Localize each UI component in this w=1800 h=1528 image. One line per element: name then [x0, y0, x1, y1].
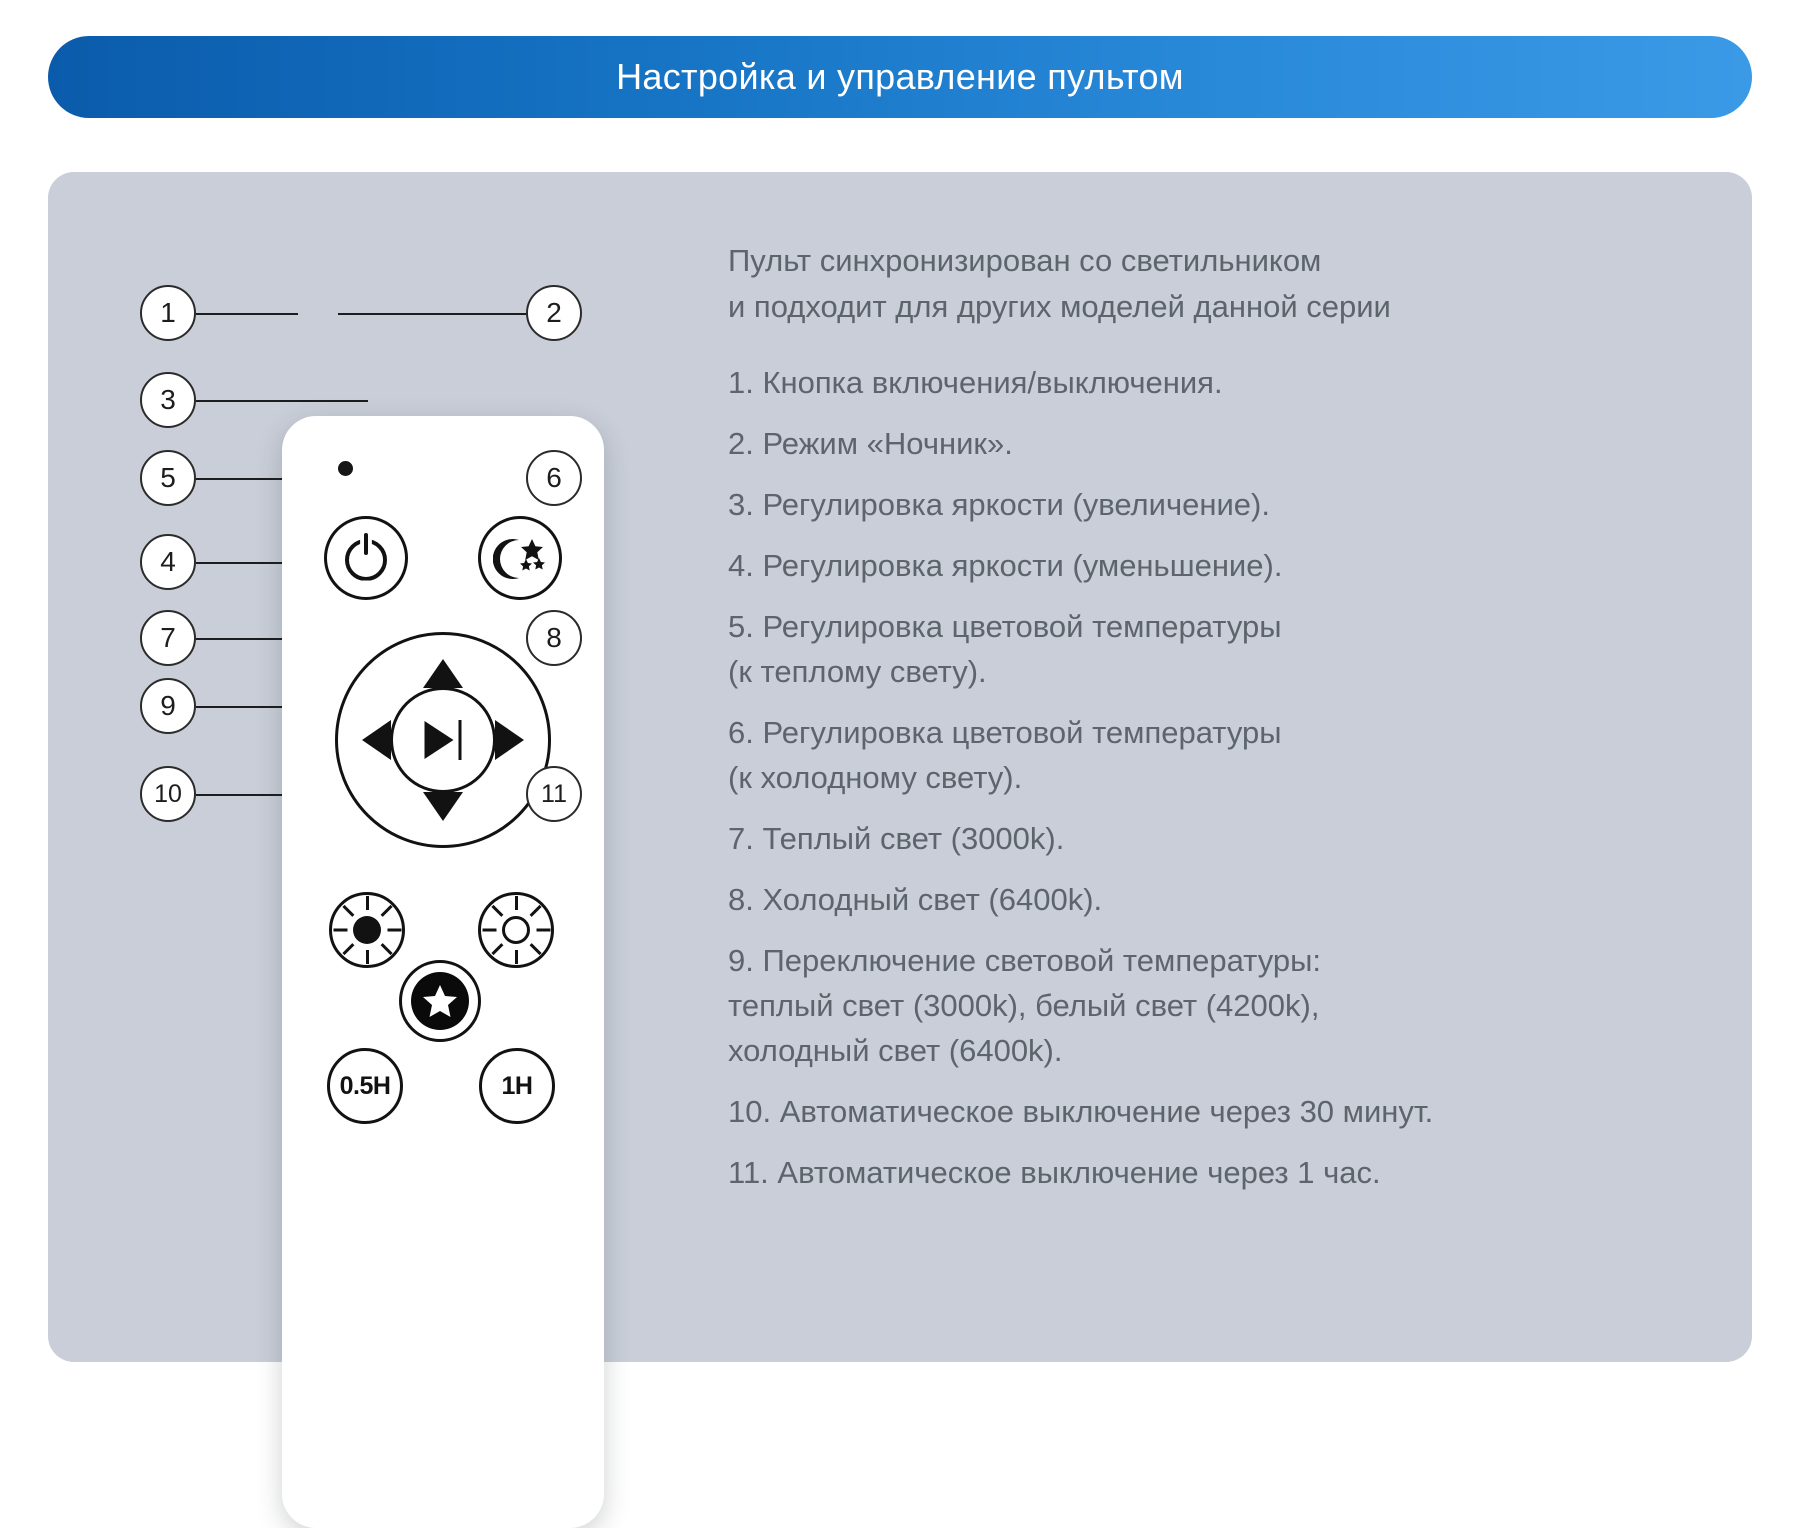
list-item: 7. Теплый свет (3000k). — [728, 816, 1688, 861]
callout-10[interactable]: 10 — [140, 766, 196, 822]
callout-10-label: 10 — [154, 780, 182, 809]
sun-ray — [529, 905, 541, 917]
pause-bar-icon — [459, 720, 462, 760]
list-item: 11. Автоматическое выключение через 1 ча… — [728, 1150, 1688, 1195]
list-item: 4. Регулировка яркости (уменьшение). — [728, 543, 1688, 588]
callout-3-label: 3 — [160, 384, 176, 416]
leader-line-1 — [196, 313, 298, 315]
callout-5-label: 5 — [160, 462, 176, 494]
callout-9-label: 9 — [160, 690, 176, 722]
triangle-up-icon[interactable] — [423, 659, 463, 688]
leader-line-7 — [196, 638, 294, 640]
timer-1hour-button[interactable]: 1H — [479, 1048, 555, 1124]
callout-4-label: 4 — [160, 546, 176, 578]
callout-5[interactable]: 5 — [140, 450, 196, 506]
list-item: 8. Холодный свет (6400k). — [728, 877, 1688, 922]
callout-9[interactable]: 9 — [140, 678, 196, 734]
moon-stars-icon — [493, 531, 549, 587]
callout-7-label: 7 — [160, 622, 176, 654]
callout-11-label: 11 — [541, 780, 567, 809]
leader-line-5 — [196, 478, 289, 480]
callout-4[interactable]: 4 — [140, 534, 196, 590]
triangle-left-icon[interactable] — [362, 720, 391, 760]
callout-6-label: 6 — [546, 462, 562, 494]
color-temp-cycle-button[interactable] — [399, 960, 481, 1042]
star-disc — [411, 972, 469, 1030]
cool-light-button[interactable] — [478, 892, 554, 968]
callout-1-label: 1 — [160, 297, 176, 329]
list-item: 1. Кнопка включения/выключения. — [728, 360, 1688, 405]
list-item: 10. Автоматическое выключение через 30 м… — [728, 1089, 1688, 1134]
sun-hollow-icon — [502, 916, 530, 944]
button-description-list: 1. Кнопка включения/выключения. 2. Режим… — [728, 360, 1688, 1195]
triangle-down-icon[interactable] — [423, 792, 463, 821]
sun-ray — [491, 943, 503, 955]
header-banner: Настройка и управление пультом — [48, 36, 1752, 118]
page-root: Настройка и управление пультом — [0, 0, 1800, 1400]
list-item: 5. Регулировка цветовой температуры (к т… — [728, 604, 1688, 694]
play-pause-icon — [425, 720, 462, 760]
timer-30min-label: 0.5H — [340, 1072, 391, 1101]
list-item: 9. Переключение световой температуры: те… — [728, 938, 1688, 1073]
sun-filled-icon — [353, 916, 381, 944]
sun-ray — [515, 896, 518, 910]
sun-ray — [366, 950, 369, 964]
callout-8-label: 8 — [546, 622, 562, 654]
list-item: 2. Режим «Ночник». — [728, 421, 1688, 466]
timer-1hour-label: 1H — [502, 1072, 533, 1101]
sun-ray — [380, 905, 392, 917]
list-item: 6. Регулировка цветовой температуры (к х… — [728, 710, 1688, 800]
star-icon — [421, 982, 459, 1020]
play-triangle-icon — [425, 721, 454, 759]
leader-line-2 — [338, 313, 528, 315]
timer-30min-button[interactable]: 0.5H — [327, 1048, 403, 1124]
sun-ray — [342, 943, 354, 955]
sun-ray — [482, 929, 496, 932]
power-icon-bar — [364, 533, 368, 555]
info-column: Пульт синхронизирован со светильником и … — [728, 238, 1688, 1211]
directional-pad[interactable] — [335, 632, 551, 848]
warm-light-button[interactable] — [329, 892, 405, 968]
sun-ray — [366, 896, 369, 910]
callout-6[interactable]: 6 — [526, 450, 582, 506]
sun-ray — [536, 929, 550, 932]
callout-1[interactable]: 1 — [140, 285, 196, 341]
sun-ray — [342, 905, 354, 917]
callout-7[interactable]: 7 — [140, 610, 196, 666]
callout-2[interactable]: 2 — [526, 285, 582, 341]
sun-ray — [515, 950, 518, 964]
sun-ray — [491, 905, 503, 917]
sun-ray — [387, 929, 401, 932]
play-pause-button[interactable] — [390, 687, 496, 793]
page-title: Настройка и управление пультом — [616, 56, 1184, 98]
callout-11[interactable]: 11 — [526, 766, 582, 822]
callout-8[interactable]: 8 — [526, 610, 582, 666]
callout-3[interactable]: 3 — [140, 372, 196, 428]
list-item: 3. Регулировка яркости (увеличение). — [728, 482, 1688, 527]
power-button[interactable] — [324, 516, 408, 600]
ir-led-icon — [338, 461, 353, 476]
callout-2-label: 2 — [546, 297, 562, 329]
night-mode-button[interactable] — [478, 516, 562, 600]
sun-ray — [333, 929, 347, 932]
triangle-right-icon[interactable] — [495, 720, 524, 760]
leader-line-10 — [196, 794, 294, 796]
leader-line-3 — [196, 400, 368, 402]
sun-ray — [380, 943, 392, 955]
remote-control-body: 0.5H 1H — [282, 416, 604, 1528]
intro-text: Пульт синхронизирован со светильником и … — [728, 238, 1688, 330]
sun-ray — [529, 943, 541, 955]
